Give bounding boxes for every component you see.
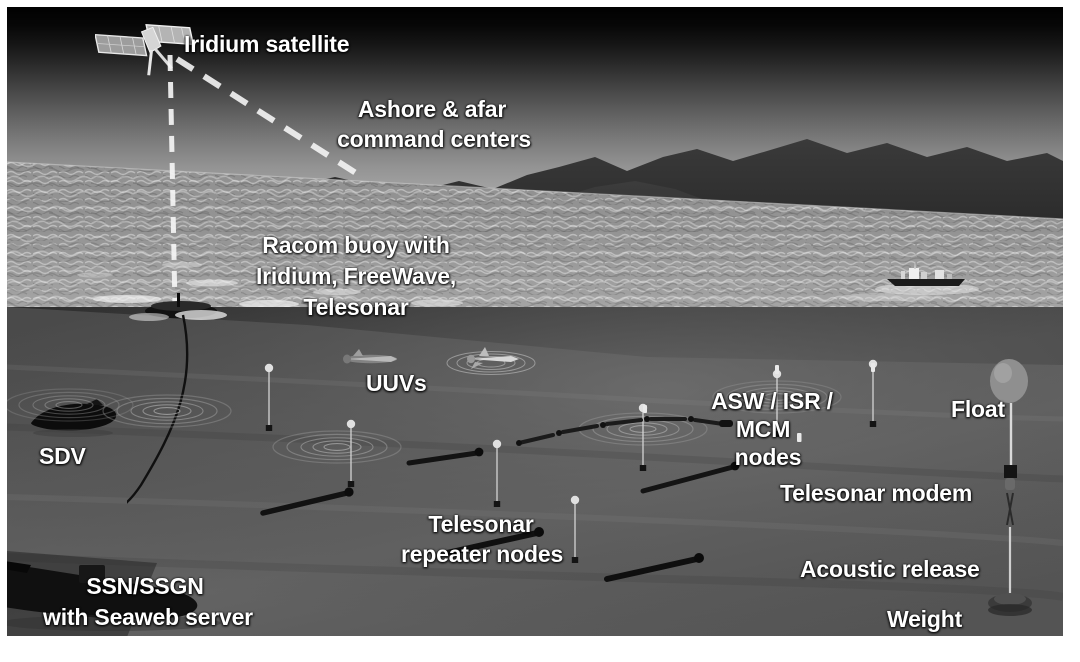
racom-buoy-group — [127, 289, 367, 539]
label-asw-nodes-line3: nodes — [699, 444, 837, 471]
label-asw-nodes-line1: ASW / ISR / — [691, 388, 853, 415]
ssn-ssgn-submarine-icon — [7, 543, 271, 636]
uuv-right-icon — [435, 333, 565, 393]
mooring-float-icon — [990, 359, 1028, 403]
label-racom-buoy-line3: Telesonar — [262, 294, 450, 321]
acoustic-ring-set — [7, 389, 133, 421]
coastal-spur — [607, 283, 1063, 367]
acoustic-ring-set — [713, 381, 841, 413]
anchor-weight-icon — [988, 593, 1032, 616]
acoustic-ring-set — [579, 413, 707, 445]
telesonar-repeater-node — [265, 360, 877, 563]
label-weight: Weight — [887, 606, 962, 633]
submarine-sail — [79, 565, 105, 583]
label-racom-buoy-line2: Iridium, FreeWave, — [220, 263, 492, 290]
label-uuvs: UUVs — [366, 370, 427, 397]
acoustic-ring-set — [273, 431, 401, 463]
acoustic-ring-set — [103, 395, 231, 427]
label-acoustic-release: Acoustic release — [800, 556, 980, 583]
uuv-left-icon — [327, 339, 417, 379]
sdv-icon — [25, 393, 145, 443]
sediment-bands — [7, 367, 1063, 597]
label-float: Float — [951, 396, 1005, 423]
segmented-sensor-array — [519, 419, 723, 443]
seafloor — [7, 307, 1063, 636]
label-telesonar-repeater-line1: Telesonar — [407, 511, 555, 538]
label-sdv: SDV — [39, 443, 86, 470]
seabed-cable — [263, 448, 739, 579]
figure-frame: Iridium satellite Ashore & afar command … — [0, 0, 1080, 662]
seafloor-node-field — [7, 307, 1063, 636]
buoy-tether-cable — [127, 315, 187, 507]
label-telesonar-repeater-line2: repeater nodes — [373, 541, 591, 568]
label-ssn-ssgn-line1: SSN/SSGN — [55, 573, 235, 600]
array-node-marker — [516, 416, 733, 446]
racom-buoy-icon — [129, 293, 227, 321]
shore-point — [727, 323, 887, 353]
label-ssn-ssgn-line2: with Seaweb server — [15, 604, 281, 631]
mooring-assembly — [973, 359, 1063, 631]
telesonar-modem-icon — [1004, 465, 1017, 478]
acoustic-rings — [447, 352, 535, 375]
label-telesonar-modem: Telesonar modem — [780, 480, 972, 507]
sky-gradient — [7, 7, 1063, 267]
label-asw-nodes-line2: MCM — [699, 416, 827, 443]
distant-node-marker — [643, 363, 875, 442]
water-glints — [77, 262, 1017, 341]
seaweb-scene: Iridium satellite Ashore & afar command … — [7, 7, 1063, 636]
acoustic-release-icon — [1006, 490, 1014, 527]
